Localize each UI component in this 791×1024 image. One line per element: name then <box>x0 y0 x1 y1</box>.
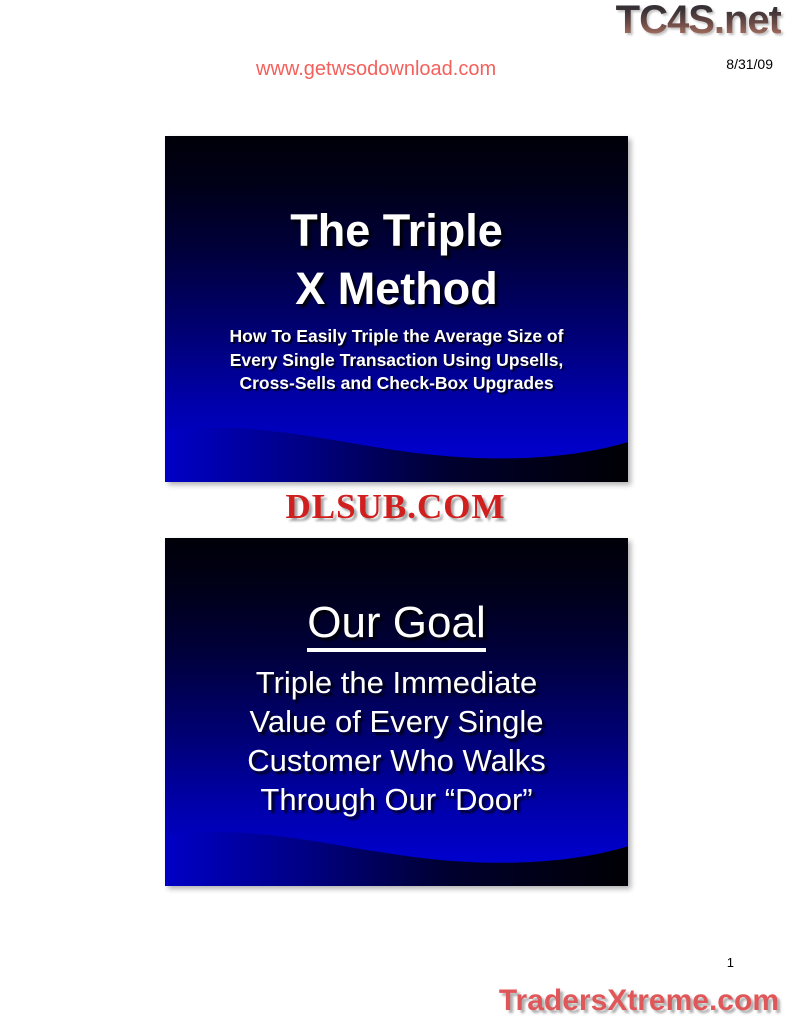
slide-1-subtitle-line-3: Cross-Sells and Check-Box Upgrades <box>239 373 553 393</box>
slide-2-content: Our Goal Triple the Immediate Value of E… <box>165 538 628 819</box>
header-date: 8/31/09 <box>726 56 773 72</box>
dlsub-watermark: DLSUB.COM <box>0 487 791 527</box>
slide-1-subtitle-line-2: Every Single Transaction Using Upsells, <box>230 350 564 370</box>
tc4s-brand-logo: TC4S.net <box>616 0 781 42</box>
slide-2-title-text: Our Goal <box>307 598 486 652</box>
page-number: 1 <box>727 955 734 970</box>
slide-1-subtitle: How To Easily Triple the Average Size of… <box>165 317 628 396</box>
slide-wave-decoration <box>165 392 628 482</box>
slide-thumbnail-2[interactable]: Our Goal Triple the Immediate Value of E… <box>165 538 628 886</box>
slide-1-content: The Triple X Method How To Easily Triple… <box>165 136 628 396</box>
slide-thumbnail-1[interactable]: The Triple X Method How To Easily Triple… <box>165 136 628 482</box>
slide-1-title: The Triple X Method <box>165 136 628 317</box>
slide-2-body-line-1: Triple the Immediate <box>256 665 537 700</box>
slide-2-title: Our Goal <box>165 538 628 647</box>
slide-1-title-line-1: The Triple <box>290 205 503 256</box>
site-url-text: www.getwsodownload.com <box>256 58 496 81</box>
slide-1-title-line-2: X Method <box>295 263 497 314</box>
slide-2-body-line-3: Customer Who Walks <box>247 743 546 778</box>
slide-2-body: Triple the Immediate Value of Every Sing… <box>165 647 628 819</box>
slide-1-subtitle-line-1: How To Easily Triple the Average Size of <box>230 326 564 346</box>
slide-2-body-line-2: Value of Every Single <box>249 704 543 739</box>
tradersxtreme-watermark: TradersXtreme.com <box>499 984 779 1018</box>
slide-2-body-line-4: Through Our “Door” <box>260 782 532 817</box>
